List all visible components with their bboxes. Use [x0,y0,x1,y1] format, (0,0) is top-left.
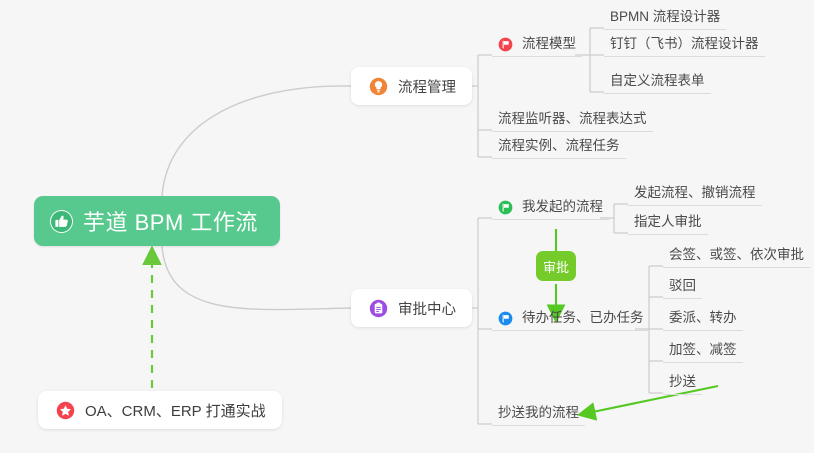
node-assignee-approval[interactable]: 指定人审批 [628,209,708,235]
link-root-to-process-management [162,86,351,196]
node-label-process-listener: 流程监听器、流程表达式 [498,107,647,127]
flag-icon [498,311,513,326]
node-todo-done-task[interactable]: 待办任务、已办任务 [492,305,650,331]
node-add-remove-sign[interactable]: 加签、减签 [663,337,743,363]
flag-icon [498,37,513,52]
star-icon [54,399,76,421]
node-label-todo-done-task: 待办任务、已办任务 [522,306,644,326]
node-countersign[interactable]: 会签、或签、依次审批 [663,242,810,268]
node-label-delegate-transfer: 委派、转办 [669,306,737,326]
root-node[interactable]: 芋道 BPM 工作流 [34,196,280,246]
node-label-process-model: 流程模型 [522,32,576,52]
node-dingtalk-designer[interactable]: 钉钉（飞书）流程设计器 [604,31,765,57]
node-label-reject: 驳回 [669,274,696,294]
bottom-callout-label: OA、CRM、ERP 打通实战 [85,400,266,421]
node-delegate-transfer[interactable]: 委派、转办 [663,305,743,331]
clipboard-icon [367,297,389,319]
node-label-start-cancel-process: 发起流程、撤销流程 [634,181,756,201]
node-process-model[interactable]: 流程模型 [492,31,582,57]
node-label-cc-my-process: 抄送我的流程 [498,401,579,421]
node-label-custom-form: 自定义流程表单 [610,69,705,89]
lightbulb-icon [367,75,389,97]
branch-node-process-management[interactable]: 流程管理 [351,67,472,105]
node-bpmn-designer[interactable]: BPMN 流程设计器 [604,4,726,30]
branch-label-process-management: 流程管理 [398,76,456,97]
node-process-instance[interactable]: 流程实例、流程任务 [492,133,626,159]
node-label-assignee-approval: 指定人审批 [634,210,702,230]
node-cc-my-process[interactable]: 抄送我的流程 [492,400,585,426]
node-start-cancel-process[interactable]: 发起流程、撤销流程 [628,180,762,206]
node-custom-form[interactable]: 自定义流程表单 [604,68,711,94]
node-label-bpmn-designer: BPMN 流程设计器 [610,5,720,25]
node-label-dingtalk-designer: 钉钉（飞书）流程设计器 [610,32,759,52]
thumbs-up-icon [50,210,73,233]
bottom-callout-node[interactable]: OA、CRM、ERP 打通实战 [38,391,282,429]
root-node-label: 芋道 BPM 工作流 [83,205,258,237]
branch-label-approval-center: 审批中心 [398,298,456,319]
node-label-add-remove-sign: 加签、减签 [669,338,737,358]
node-reject[interactable]: 驳回 [663,273,702,299]
flag-icon [498,200,513,215]
node-label-countersign: 会签、或签、依次审批 [669,243,804,263]
link-root-to-approval-center [162,246,351,310]
node-label-process-instance: 流程实例、流程任务 [498,134,620,154]
approval-flow-tag-label: 审批 [543,257,569,276]
branch-node-approval-center[interactable]: 审批中心 [351,289,472,327]
node-my-started-process[interactable]: 我发起的流程 [492,194,609,220]
node-label-my-started-process: 我发起的流程 [522,195,603,215]
approval-flow-tag: 审批 [536,251,576,281]
mindmap-canvas: 芋道 BPM 工作流 流程管理 流程模型 BPMN 流程设计器 钉钉（飞书 [0,0,814,453]
node-carbon-copy[interactable]: 抄送 [663,369,702,395]
node-label-carbon-copy: 抄送 [669,370,696,390]
node-process-listener[interactable]: 流程监听器、流程表达式 [492,106,653,132]
